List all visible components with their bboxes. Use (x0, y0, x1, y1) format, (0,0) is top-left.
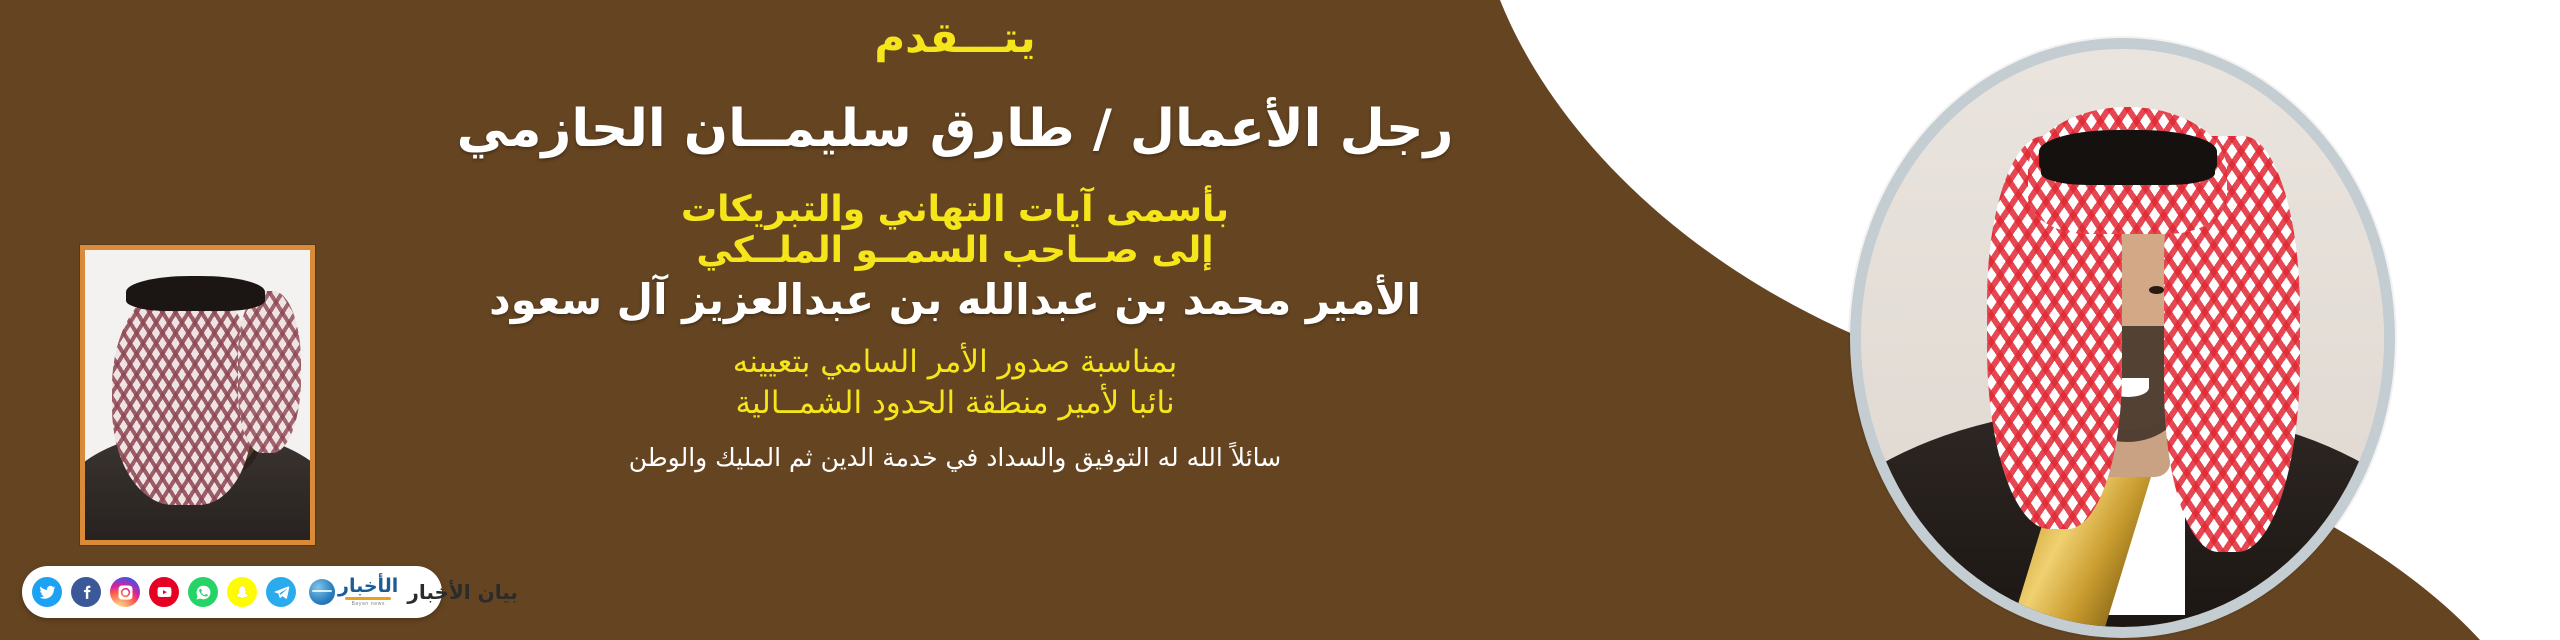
telegram-icon[interactable] (266, 577, 296, 607)
logo-underline (345, 597, 391, 600)
businessman-photo (80, 245, 315, 545)
logo-subtitle: Bayan news (352, 602, 385, 607)
social-media-bar[interactable]: الأخبار Bayan news بيان الأخبار (22, 566, 442, 618)
youtube-icon[interactable] (149, 577, 179, 607)
bayan-news-logo[interactable]: الأخبار Bayan news (309, 577, 398, 607)
closing-prayer: سائلاً الله له التوفيق والسداد في خدمة ا… (629, 445, 1282, 471)
prince-name: الأمير محمد بن عبدالله بن عبدالعزيز آل س… (489, 278, 1421, 322)
businessman-name: رجل الأعمال / طارق سليمــان الحازمي (457, 102, 1454, 157)
globe-icon (309, 579, 335, 605)
presents-line: يتـــقدم (874, 16, 1035, 60)
occasion-line-1: بمناسبة صدور الأمر السامي بتعيينه (733, 346, 1177, 379)
instagram-icon[interactable] (110, 577, 140, 607)
greeting-line-1: بأسمى آيات التهاني والتبريكات (681, 191, 1229, 229)
snapchat-icon[interactable] (227, 577, 257, 607)
message-block: يتـــقدم رجل الأعمال / طارق سليمــان الح… (330, 0, 1580, 640)
prince-portrait (1850, 38, 2395, 638)
logo-word: الأخبار (338, 577, 398, 596)
whatsapp-icon[interactable] (188, 577, 218, 607)
occasion-line-2: نائبا لأمير منطقة الحدود الشمــالية (735, 387, 1174, 420)
facebook-icon[interactable] (71, 577, 101, 607)
twitter-icon[interactable] (32, 577, 62, 607)
congratulation-banner: يتـــقدم رجل الأعمال / طارق سليمــان الح… (0, 0, 2560, 640)
brand-name: بيان الأخبار (407, 580, 518, 604)
greeting-line-2: إلى صــاحب السمــو الملــكي (696, 232, 1213, 270)
